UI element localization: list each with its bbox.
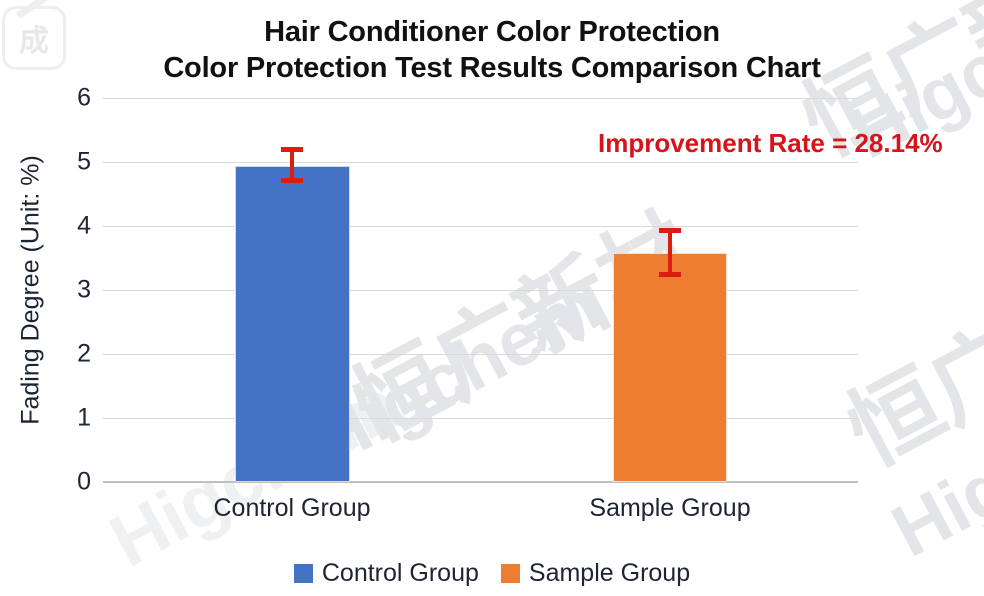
legend-item-sample-group[interactable]: Sample Group: [501, 559, 690, 588]
improvement-rate-annotation: Improvement Rate = 28.14%: [598, 128, 943, 159]
y-tick-label-0: 0: [77, 468, 91, 497]
chart-title-line-1: Hair Conditioner Color Protection: [0, 14, 984, 50]
x-tick-label-sample-group: Sample Group: [589, 494, 750, 523]
y-tick-label-3: 3: [77, 276, 91, 305]
watermark-en-3: Higchem: [878, 352, 984, 574]
error-bar-sample-group: [668, 231, 672, 276]
legend-swatch-control-group: [294, 564, 313, 583]
chart-title: Hair Conditioner Color Protection Color …: [0, 14, 984, 86]
legend-label-control-group: Control Group: [322, 559, 479, 588]
y-tick-label-2: 2: [77, 340, 91, 369]
bar-control-group[interactable]: [235, 166, 350, 482]
legend-swatch-sample-group: [501, 564, 520, 583]
gridline-4: [103, 226, 858, 227]
error-bar-cap-top-control-group: [281, 147, 303, 152]
gridline-6: [103, 98, 858, 99]
error-bar-cap-bottom-sample-group: [659, 272, 681, 277]
y-tick-label-1: 1: [77, 404, 91, 433]
y-axis-label: Fading Degree (Unit: %): [17, 155, 46, 425]
chart-container: 成 恒广新材 Higchem 恒广新材 Higchem 恒广新材 Higchem…: [0, 0, 984, 596]
bar-sample-group[interactable]: [613, 253, 727, 482]
x-tick-label-control-group: Control Group: [213, 494, 370, 523]
y-tick-label-4: 4: [77, 212, 91, 241]
x-axis-baseline: [103, 481, 858, 483]
chart-legend: Control Group Sample Group: [0, 559, 984, 588]
legend-label-sample-group: Sample Group: [529, 559, 690, 588]
gridline-3: [103, 290, 858, 291]
gridline-5: [103, 162, 858, 163]
gridline-2: [103, 354, 858, 355]
legend-item-control-group[interactable]: Control Group: [294, 559, 479, 588]
gridline-1: [103, 418, 858, 419]
y-tick-label-6: 6: [77, 84, 91, 113]
y-tick-label-5: 5: [77, 148, 91, 177]
error-bar-cap-top-sample-group: [659, 228, 681, 233]
error-bar-cap-bottom-control-group: [281, 178, 303, 183]
chart-title-line-2: Color Protection Test Results Comparison…: [0, 50, 984, 86]
